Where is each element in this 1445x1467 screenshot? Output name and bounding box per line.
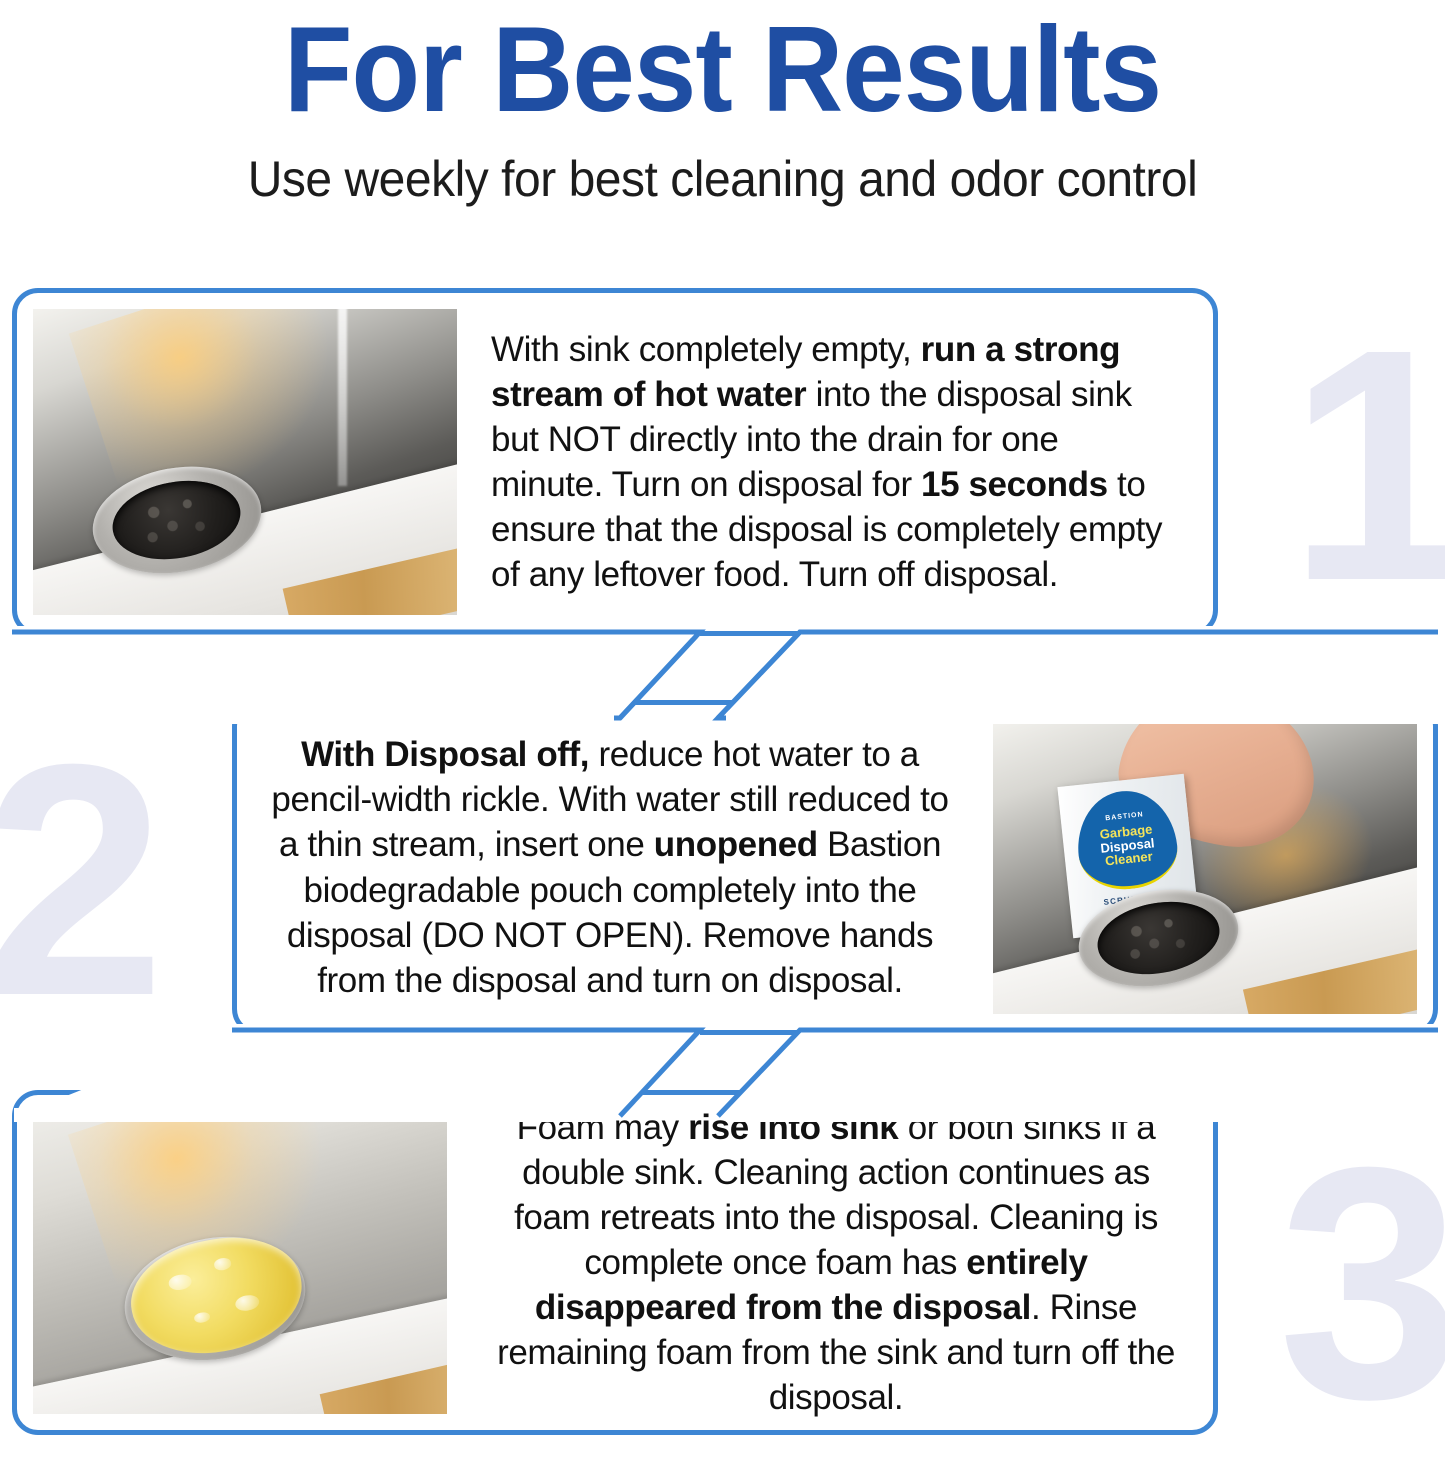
step-2-text: With Disposal off, reduce hot water to a…: [261, 732, 959, 1003]
page-header: For Best Results Use weekly for best cle…: [0, 0, 1445, 207]
step-number-2: 2: [0, 715, 166, 1045]
step-number-1: 1: [1288, 300, 1445, 630]
foam-bubble: [214, 1257, 233, 1271]
page-title: For Best Results: [58, 0, 1387, 136]
water-stream: [338, 309, 347, 486]
step-2-copy: With Disposal off, reduce hot water to a…: [237, 705, 993, 1030]
step-1-photo: [33, 309, 457, 615]
brand-name: BASTION: [1105, 811, 1144, 822]
drain-debris: [1103, 900, 1214, 975]
water-droplet-logo-shape: BASTION Garbage Disposal Cleaner: [1073, 786, 1182, 893]
disposal-drain-opening: [107, 471, 247, 569]
packet-line-3: Cleaner: [1105, 849, 1154, 867]
step-3-photo: [33, 1111, 447, 1414]
step-2-photo: BASTION Garbage Disposal Cleaner SCRUBBI…: [993, 721, 1417, 1014]
step-card-2: With Disposal off, reduce hot water to a…: [232, 700, 1438, 1035]
page-subtitle: Use weekly for best cleaning and odor co…: [29, 136, 1416, 207]
step-1-text: With sink completely empty, run a strong…: [491, 327, 1177, 598]
step-card-3: Foam may rise into sink or both sinks if…: [12, 1090, 1218, 1435]
step-card-1: With sink completely empty, run a strong…: [12, 288, 1218, 636]
step-1-copy: With sink completely empty, run a strong…: [457, 293, 1213, 631]
foam-bubble: [168, 1274, 192, 1292]
foam-bubble: [194, 1311, 211, 1324]
disposal-drain-opening: [1092, 893, 1225, 983]
step-number-3: 3: [1278, 1118, 1445, 1448]
foam-bubble: [234, 1293, 260, 1313]
step-3-text: Foam may rise into sink or both sinks if…: [481, 1105, 1191, 1421]
step-3-copy: Foam may rise into sink or both sinks if…: [447, 1095, 1213, 1430]
drain-debris: [118, 479, 236, 561]
